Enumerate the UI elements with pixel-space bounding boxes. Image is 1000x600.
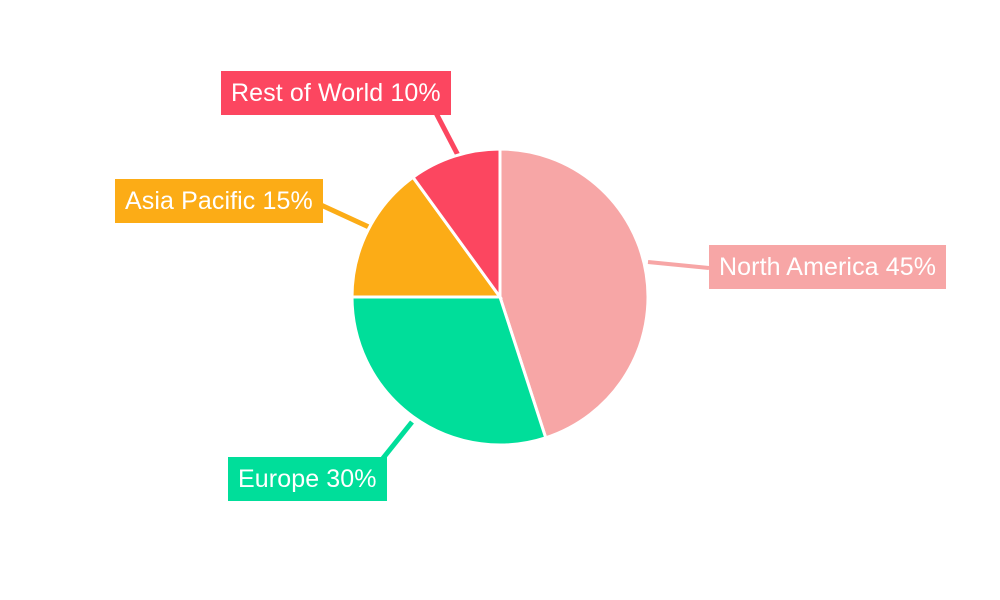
pie-label-asia-pacific-text: Asia Pacific 15% <box>125 189 313 214</box>
pie-slices <box>352 149 648 445</box>
pie-label-north-america-text: North America 45% <box>719 255 936 280</box>
pie-label-north-america[interactable]: North America 45% <box>709 245 946 289</box>
leader-line-europe <box>380 422 412 462</box>
leader-line-north-america <box>648 262 709 268</box>
pie-label-rest-of-world[interactable]: Rest of World 10% <box>221 71 451 115</box>
pie-chart <box>0 0 1000 600</box>
chart-canvas: North America 45% Europe 30% Asia Pacifi… <box>0 0 1000 600</box>
pie-label-europe[interactable]: Europe 30% <box>228 457 387 501</box>
pie-label-asia-pacific[interactable]: Asia Pacific 15% <box>115 179 323 223</box>
pie-label-europe-text: Europe 30% <box>238 467 377 492</box>
pie-label-rest-of-world-text: Rest of World 10% <box>231 81 441 106</box>
